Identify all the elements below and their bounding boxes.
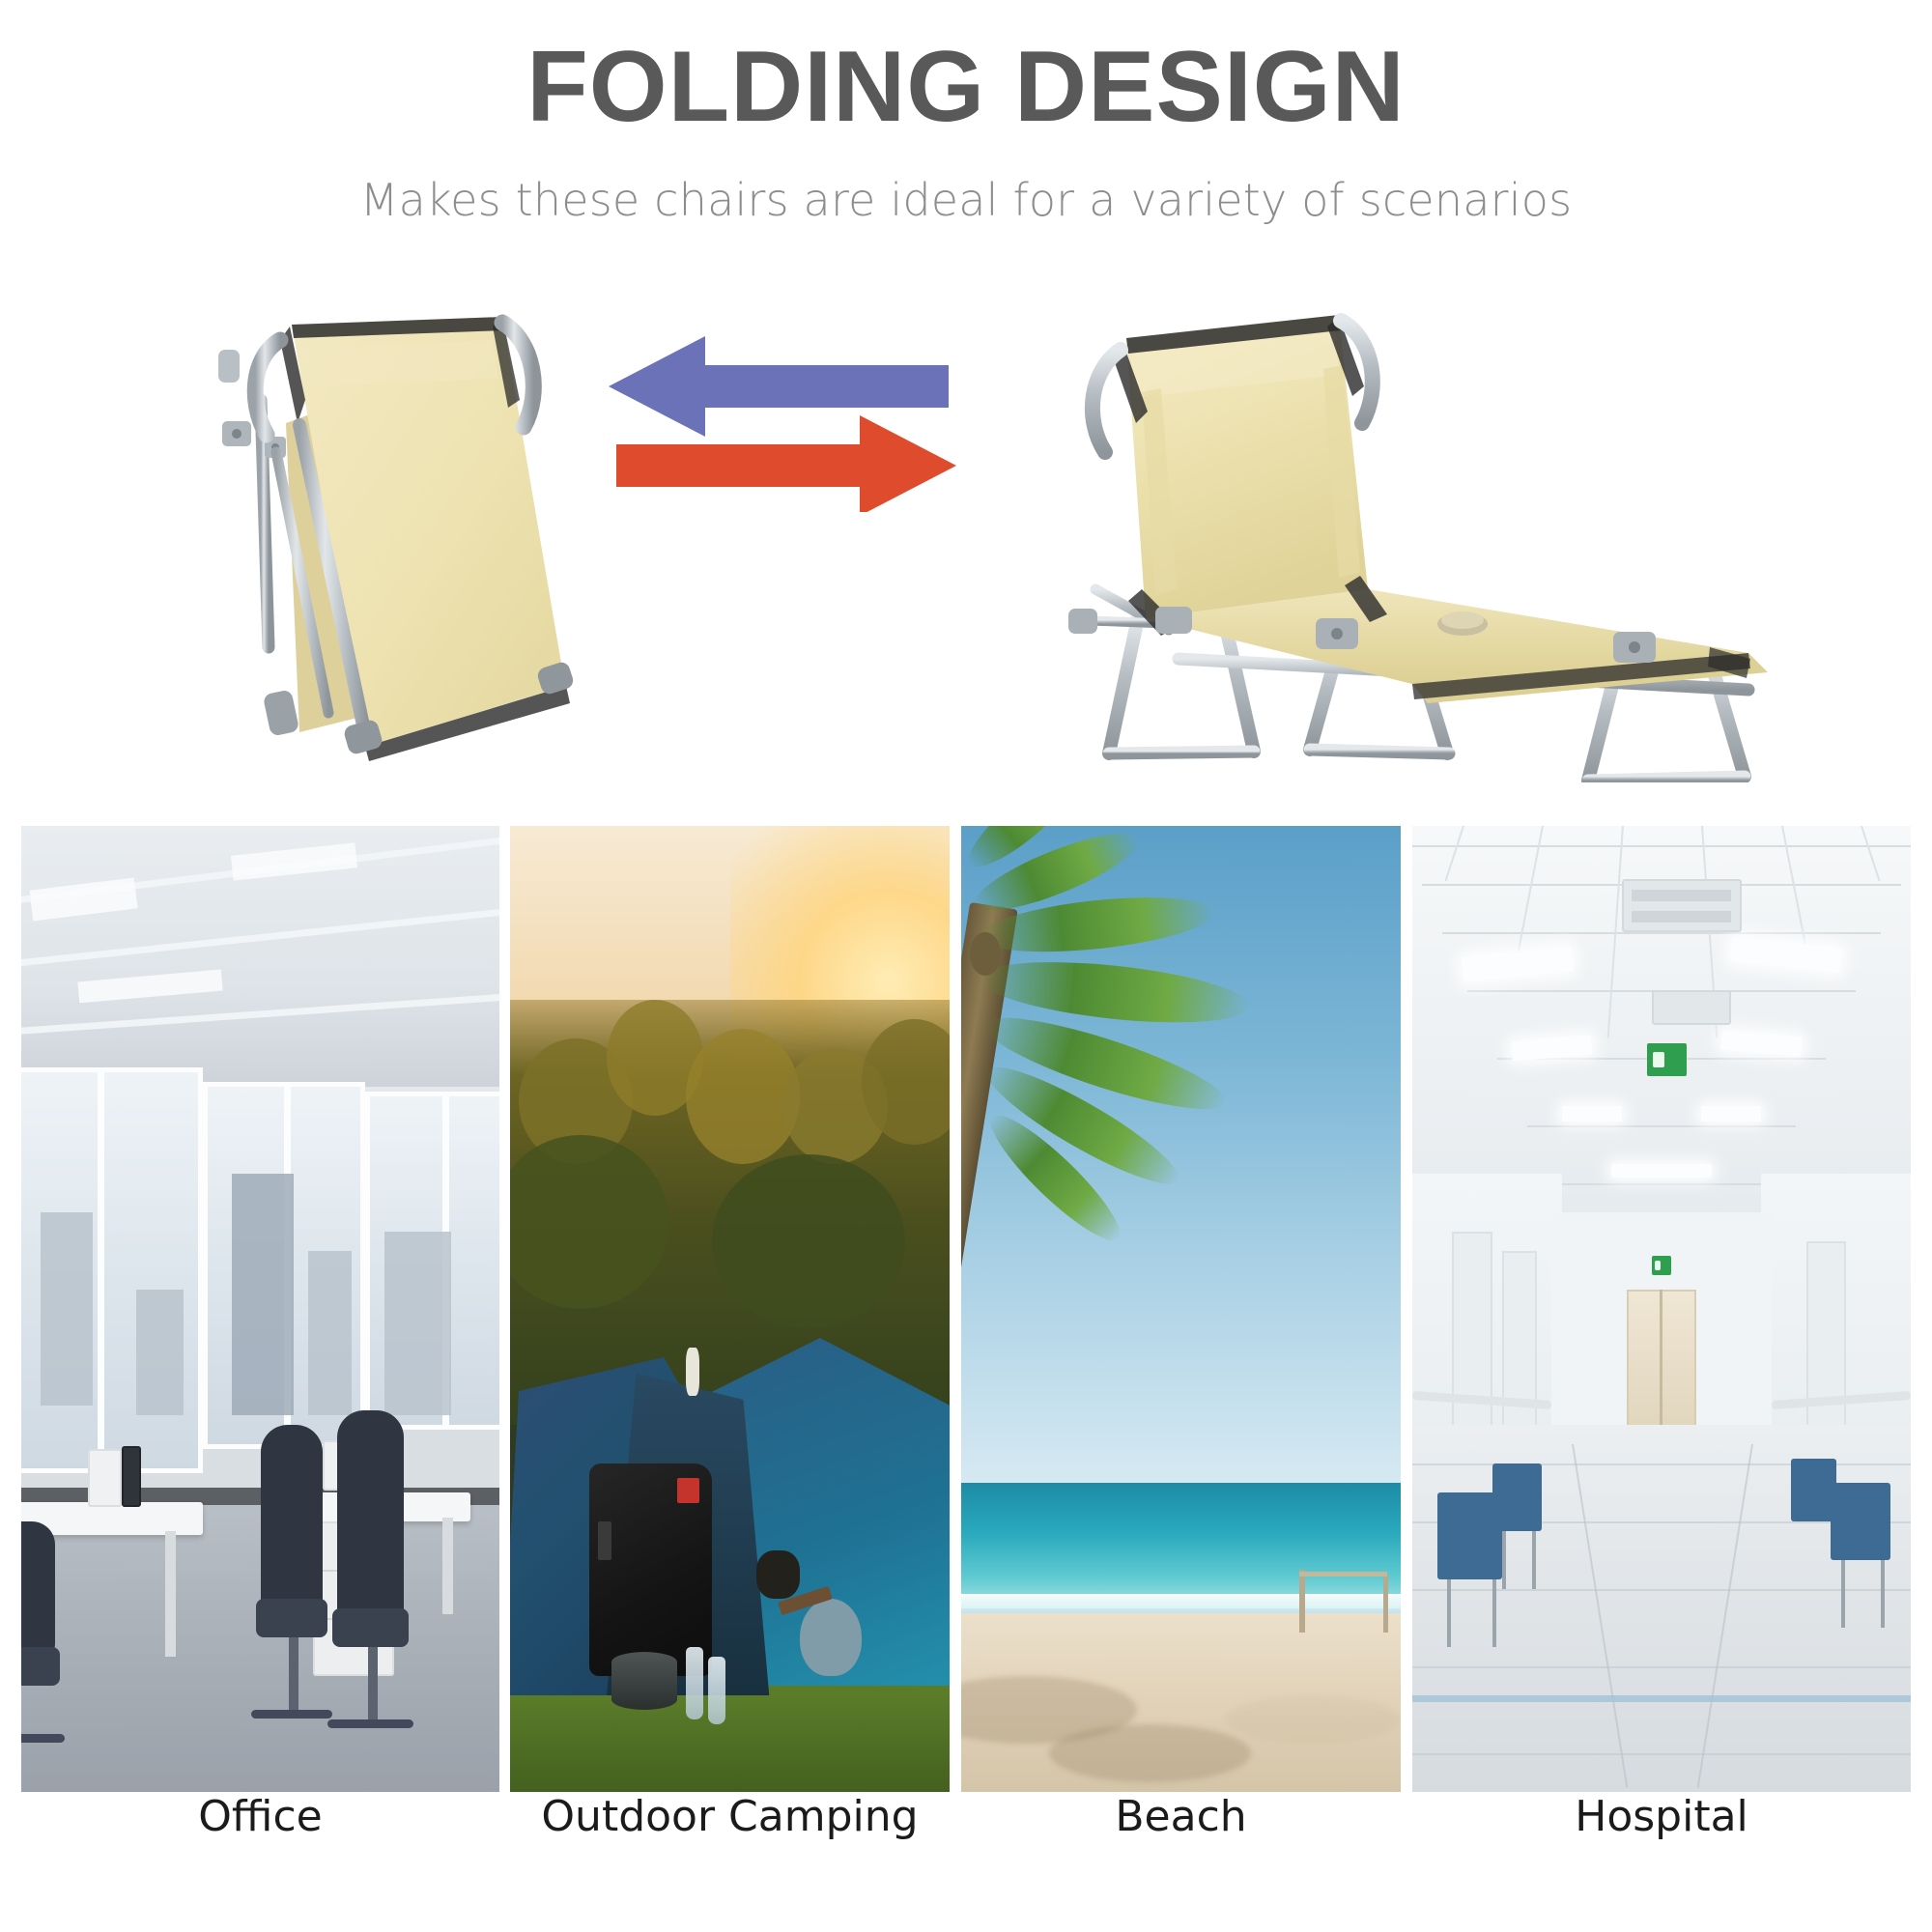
beach-photo <box>961 826 1401 1792</box>
exit-sign-icon <box>1647 1043 1687 1076</box>
camping-photo <box>510 826 950 1792</box>
unfold-arrow-right <box>616 415 956 512</box>
header: FOLDING DESIGN Makes these chairs are id… <box>0 0 1932 226</box>
product-comparison-row <box>0 290 1932 802</box>
fold-unfold-arrows <box>599 328 966 512</box>
scenario-caption-beach: Beach <box>961 1792 1401 1841</box>
scenario-card-office[interactable]: Office <box>21 826 499 1835</box>
office-photo <box>21 826 499 1792</box>
scenario-caption-hospital: Hospital <box>1412 1792 1911 1841</box>
scenario-card-hospital[interactable]: Hospital <box>1412 826 1911 1835</box>
scenario-caption-camping: Outdoor Camping <box>510 1792 950 1841</box>
product-infographic-page: FOLDING DESIGN Makes these chairs are id… <box>0 0 1932 1932</box>
page-subtitle: Makes these chairs are ideal for a varie… <box>0 174 1932 226</box>
page-title: FOLDING DESIGN <box>0 33 1932 141</box>
unfolded-chair-image <box>1034 299 1797 782</box>
scenario-card-camping[interactable]: Outdoor Camping <box>510 826 950 1835</box>
folded-chair-image <box>184 307 589 761</box>
scenario-card-beach[interactable]: Beach <box>961 826 1401 1835</box>
scenario-gallery: Office <box>0 826 1932 1932</box>
fold-arrow-left <box>609 336 949 437</box>
scenario-caption-office: Office <box>21 1792 499 1841</box>
hospital-photo <box>1412 826 1911 1792</box>
